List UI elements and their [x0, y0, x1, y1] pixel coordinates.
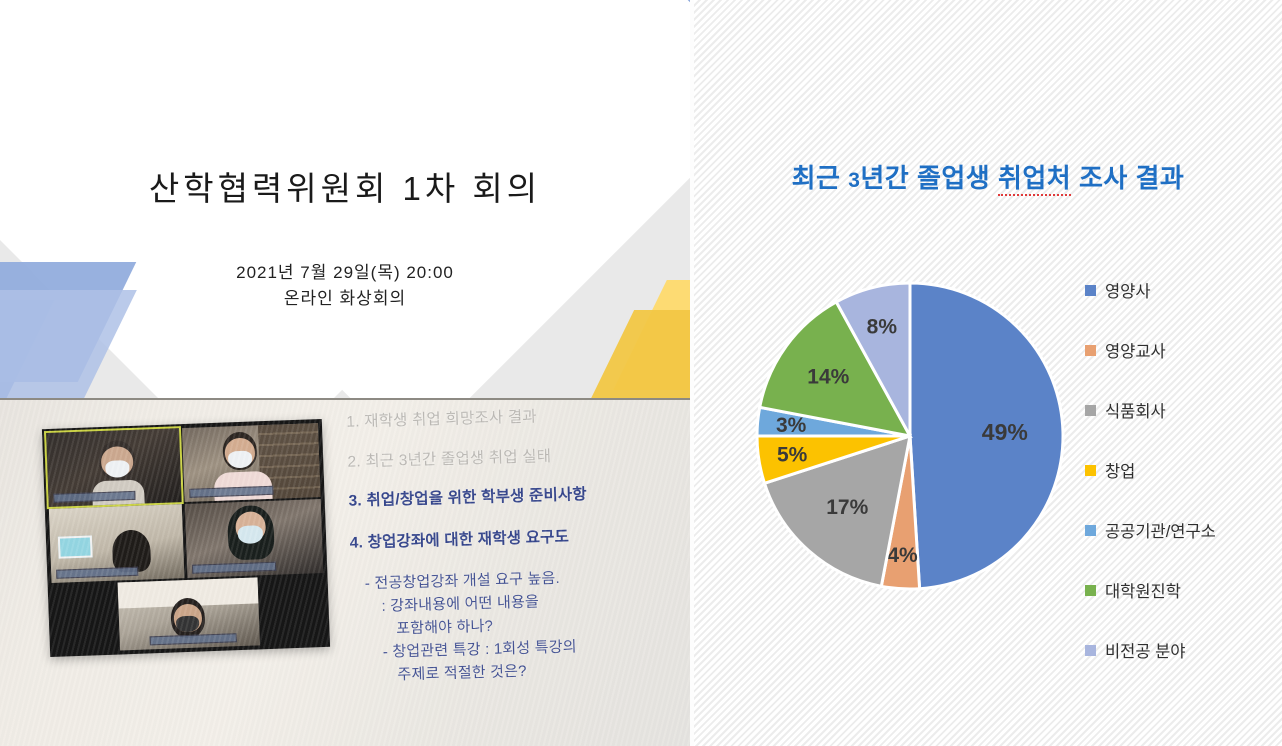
legend-swatch-식품회사 [1085, 405, 1096, 416]
participant-tile-1 [46, 428, 182, 507]
participant-tile-2 [182, 423, 321, 502]
left-panel: 산학협력위원회 1차 회의 2021년 7월 29일(목) 20:00 온라인 … [0, 0, 690, 746]
meeting-photo: 1. 재학생 취업 희망조사 결과 2. 최근 3년간 졸업생 취업 실태 3.… [0, 400, 690, 746]
slide-subtitle-location: 온라인 화상회의 [0, 286, 690, 312]
legend-item-창업[interactable]: 창업 [1085, 440, 1280, 500]
agenda-sub-4: - 창업관련 특강 : 1회성 특강의 [353, 636, 689, 660]
pie-label-식품회사: 17% [826, 496, 868, 519]
chart-title-mid: 년간 졸업생 [860, 163, 998, 193]
legend-label-영양사: 영양사 [1105, 278, 1151, 302]
agenda-sub-1: - 전공창업강좌 개설 요구 높음. [351, 567, 687, 591]
legend-item-대학원진학[interactable]: 대학원진학 [1085, 560, 1280, 620]
agenda-item-4: 4. 창업강좌에 대한 재학생 요구도 [350, 526, 686, 551]
legend-swatch-비전공 분야 [1085, 645, 1096, 656]
legend-swatch-공공기관/연구소 [1085, 525, 1096, 536]
pie-chart: 49%4%17%5%3%14%8% [755, 281, 1065, 591]
pie-label-공공기관/연구소: 3% [776, 414, 807, 437]
chart-title-suffix: 조사 결과 [1071, 163, 1184, 193]
pie-label-영양교사: 4% [887, 544, 918, 567]
legend-label-대학원진학: 대학원진학 [1105, 578, 1181, 602]
pie-label-대학원진학: 14% [807, 366, 849, 389]
pie-label-영양사: 49% [982, 419, 1028, 445]
pie-chart-svg: 49%4%17%5%3%14%8% [755, 281, 1065, 591]
legend-swatch-대학원진학 [1085, 585, 1096, 596]
agenda-sub-2: : 강좌내용에 어떤 내용을 [351, 590, 687, 614]
video-call-grid [42, 419, 330, 657]
pie-label-창업: 5% [777, 444, 808, 467]
agenda-text-block: 1. 재학생 취업 희망조사 결과 2. 최근 3년간 졸업생 취업 실태 3.… [346, 405, 690, 691]
chart-legend: 영양사영양교사식품회사창업공공기관/연구소대학원진학비전공 분야 [1085, 260, 1280, 680]
chart-title: 최근 3년간 졸업생 취업처 조사 결과 [694, 158, 1282, 195]
chart-title-number: 3 [848, 169, 860, 192]
legend-label-창업: 창업 [1105, 458, 1135, 482]
legend-item-비전공 분야[interactable]: 비전공 분야 [1085, 620, 1280, 680]
agenda-item-1: 1. 재학생 취업 희망조사 결과 [346, 405, 682, 430]
legend-label-식품회사: 식품회사 [1105, 398, 1166, 422]
slide-subtitle-datetime: 2021년 7월 29일(목) 20:00 [0, 260, 690, 286]
legend-label-영양교사: 영양교사 [1105, 338, 1166, 362]
legend-label-비전공 분야: 비전공 분야 [1105, 638, 1185, 662]
slide-canvas: 산학협력위원회 1차 회의 2021년 7월 29일(목) 20:00 온라인 … [0, 0, 1282, 746]
slide-title: 산학협력위원회 1차 회의 [0, 162, 690, 210]
agenda-sub-5: 주제로 적절한 것은? [353, 659, 689, 683]
legend-swatch-창업 [1085, 465, 1096, 476]
legend-item-공공기관/연구소[interactable]: 공공기관/연구소 [1085, 500, 1280, 560]
pie-label-비전공 분야: 8% [867, 315, 898, 338]
slide-subtitle: 2021년 7월 29일(목) 20:00 온라인 화상회의 [0, 260, 690, 313]
participant-tile-5 [118, 577, 260, 650]
legend-swatch-영양교사 [1085, 345, 1096, 356]
gold-shape-right-1 [566, 310, 690, 402]
agenda-item-2: 2. 최근 3년간 졸업생 취업 실태 [347, 445, 683, 470]
agenda-sub-3: 포함해야 하나? [352, 613, 688, 637]
chart-title-misspelled-word: 취업처 [998, 163, 1071, 196]
chart-title-prefix: 최근 [792, 163, 849, 193]
legend-label-공공기관/연구소: 공공기관/연구소 [1105, 518, 1216, 542]
legend-item-영양교사[interactable]: 영양교사 [1085, 320, 1280, 380]
legend-swatch-영양사 [1085, 285, 1096, 296]
participant-tile-4 [185, 499, 324, 578]
participant-tile-3 [49, 504, 185, 583]
legend-item-영양사[interactable]: 영양사 [1085, 260, 1280, 320]
title-slide: 산학협력위원회 1차 회의 2021년 7월 29일(목) 20:00 온라인 … [0, 0, 690, 402]
agenda-item-3: 3. 취업/창업을 위한 학부생 준비사항 [348, 484, 684, 509]
legend-item-식품회사[interactable]: 식품회사 [1085, 380, 1280, 440]
